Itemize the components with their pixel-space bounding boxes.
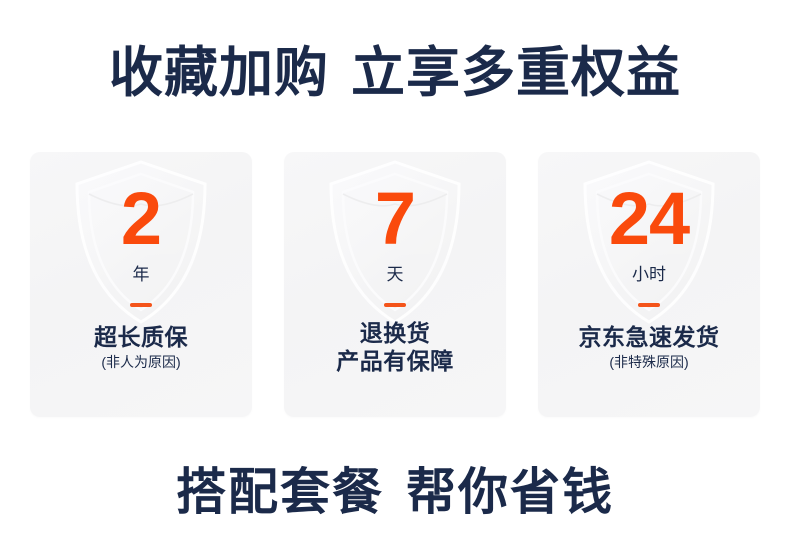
divider	[130, 303, 152, 307]
headline-bottom-part-2: 帮你省钱	[406, 464, 614, 520]
benefit-number: 2	[121, 182, 161, 256]
benefit-label: 京东急速发货	[579, 323, 720, 351]
divider	[638, 303, 660, 307]
divider	[384, 303, 406, 307]
benefit-sublabel: (非人为原因)	[94, 353, 188, 371]
benefit-card-content: 2 年 超长质保 (非人为原因)	[30, 152, 252, 417]
benefit-card-returns[interactable]: 7 天 退换货 产品有保障	[284, 152, 506, 417]
benefit-card-list: 2 年 超长质保 (非人为原因)	[30, 152, 760, 417]
benefit-label: 退换货	[336, 319, 454, 347]
promo-banner: 收藏加购立享多重权益 2 年	[0, 0, 790, 545]
benefit-label: 超长质保	[94, 323, 188, 351]
benefit-label-block: 京东急速发货 (非特殊原因)	[579, 323, 720, 371]
benefit-label-block: 超长质保 (非人为原因)	[94, 323, 188, 371]
page-title: 收藏加购立享多重权益	[0, 42, 790, 104]
benefit-unit: 小时	[632, 265, 666, 285]
headline-top-part-1: 收藏加购	[109, 43, 329, 103]
benefit-number: 24	[609, 182, 689, 256]
benefit-card-content: 24 小时 京东急速发货 (非特殊原因)	[538, 152, 760, 417]
benefit-label-block: 退换货 产品有保障	[336, 319, 454, 375]
benefit-card-content: 7 天 退换货 产品有保障	[284, 152, 506, 417]
benefit-sublabel: (非特殊原因)	[579, 353, 720, 371]
headline-bottom-part-1: 搭配套餐	[176, 464, 384, 520]
benefit-label-second-line: 产品有保障	[336, 347, 454, 375]
benefit-card-shipping[interactable]: 24 小时 京东急速发货 (非特殊原因)	[538, 152, 760, 417]
benefit-number: 7	[375, 182, 415, 256]
footer-title: 搭配套餐帮你省钱	[0, 463, 790, 521]
benefit-unit: 天	[387, 265, 404, 285]
benefit-unit: 年	[133, 265, 150, 285]
headline-top-part-2: 立享多重权益	[351, 43, 681, 103]
benefit-card-warranty[interactable]: 2 年 超长质保 (非人为原因)	[30, 152, 252, 417]
